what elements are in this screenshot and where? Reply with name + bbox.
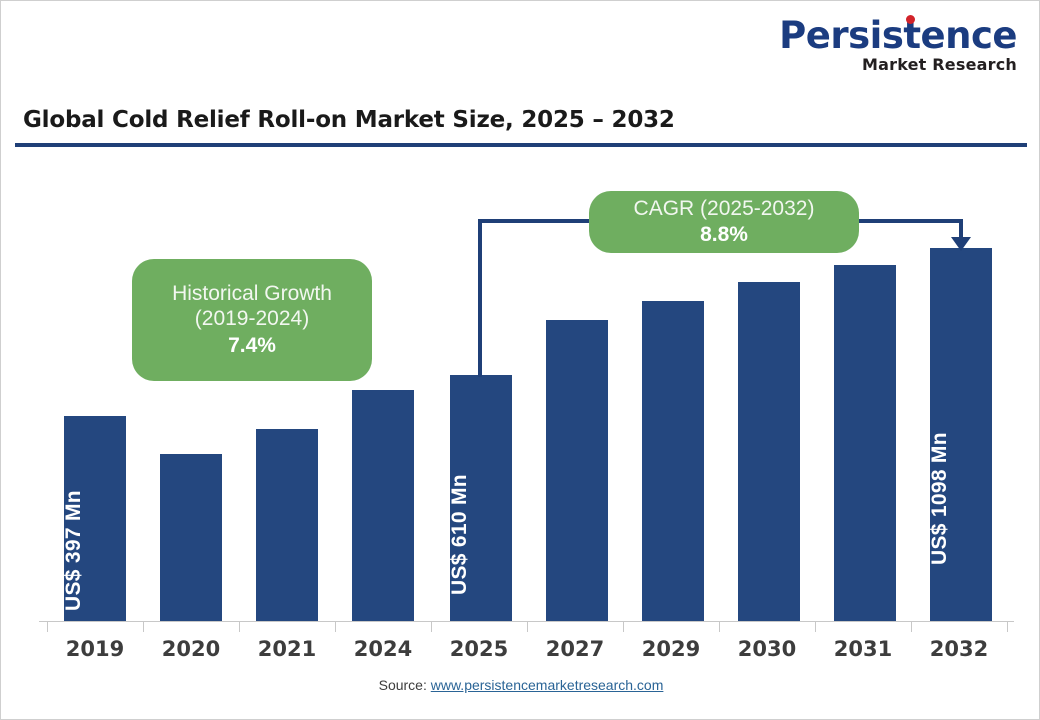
source-note: Source: www.persistencemarketresearch.co… (1, 677, 1040, 693)
axis-tick (815, 621, 816, 632)
cagr-connector-left-vertical (478, 219, 482, 377)
cagr-connector-right-vertical (959, 219, 963, 239)
cagr-callout: CAGR (2025-2032) 8.8% (589, 191, 859, 253)
bar-2020 (160, 454, 222, 621)
axis-tick (335, 621, 336, 632)
axis-tick (431, 621, 432, 632)
xtick-label-2027: 2027 (527, 637, 623, 661)
bar-value-label-2032: US$ 1098 Mn (928, 432, 952, 565)
bar-2024 (352, 390, 414, 621)
cagr-connector-left-horizontal (478, 219, 596, 223)
bar-value-label-2025: US$ 610 Mn (448, 474, 472, 595)
cagr-line1: CAGR (2025-2032) (634, 196, 815, 222)
bar-2031 (834, 265, 896, 621)
bar-2030 (738, 282, 800, 621)
bar-2029 (642, 301, 704, 621)
xtick-label-2032: 2032 (911, 637, 1007, 661)
cagr-value: 8.8% (700, 221, 748, 248)
xtick-label-2024: 2024 (335, 637, 431, 661)
historical-growth-line2: (2019-2024) (195, 306, 309, 332)
cagr-connector-right-horizontal (853, 219, 963, 223)
source-link[interactable]: www.persistencemarketresearch.com (431, 677, 664, 693)
axis-tick (47, 621, 48, 632)
axis-tick (1007, 621, 1008, 632)
bar-2021 (256, 429, 318, 621)
historical-growth-line1: Historical Growth (172, 281, 332, 307)
xtick-label-2019: 2019 (47, 637, 143, 661)
bar-2027 (546, 320, 608, 621)
xtick-label-2029: 2029 (623, 637, 719, 661)
xtick-label-2021: 2021 (239, 637, 335, 661)
historical-growth-value: 7.4% (228, 332, 276, 359)
historical-growth-callout: Historical Growth (2019-2024) 7.4% (132, 259, 372, 381)
axis-tick (623, 621, 624, 632)
axis-tick (911, 621, 912, 632)
axis-tick (527, 621, 528, 632)
axis-tick (239, 621, 240, 632)
xtick-label-2030: 2030 (719, 637, 815, 661)
xtick-label-2031: 2031 (815, 637, 911, 661)
cagr-arrow-icon (951, 237, 971, 251)
xtick-label-2020: 2020 (143, 637, 239, 661)
xtick-label-2025: 2025 (431, 637, 527, 661)
bar-chart: US$ 397 Mn US$ 610 Mn US$ 1098 Mn 2019 2… (1, 1, 1040, 720)
axis-tick (719, 621, 720, 632)
axis-tick (143, 621, 144, 632)
bar-value-label-2019: US$ 397 Mn (62, 490, 86, 611)
chart-page: Persistence Market Research Global Cold … (0, 0, 1040, 720)
source-prefix: Source: (379, 677, 431, 693)
